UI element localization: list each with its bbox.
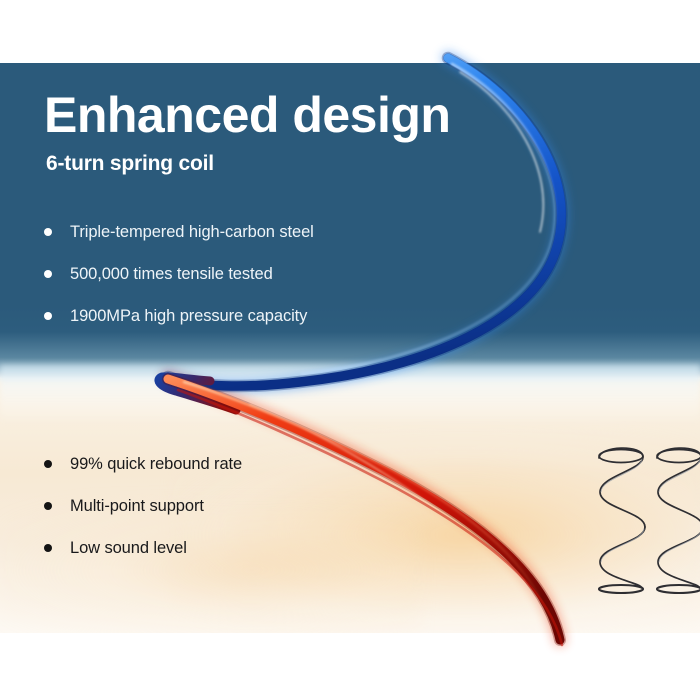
panel-fade-sheen <box>0 365 700 425</box>
bullet-dot-icon <box>44 502 52 510</box>
page-title: Enhanced design <box>44 89 450 142</box>
feature-text: Multi-point support <box>70 497 204 516</box>
feature-text: 500,000 times tensile tested <box>70 265 273 284</box>
feature-text: 1900MPa high pressure capacity <box>70 307 307 326</box>
bottom-white-margin <box>0 633 700 700</box>
product-feature-banner: Enhanced design 6-turn spring coil Tripl… <box>0 0 700 700</box>
top-feature-list: Triple-tempered high-carbon steel 500,00… <box>40 211 314 337</box>
list-item: 1900MPa high pressure capacity <box>40 295 314 337</box>
bottom-feature-list: 99% quick rebound rate Multi-point suppo… <box>40 443 242 569</box>
list-item: Multi-point support <box>40 485 242 527</box>
list-item: 99% quick rebound rate <box>40 443 242 485</box>
feature-text: Low sound level <box>70 539 187 558</box>
bullet-dot-icon <box>44 312 52 320</box>
feature-text: Triple-tempered high-carbon steel <box>70 223 314 242</box>
list-item: Low sound level <box>40 527 242 569</box>
bullet-dot-icon <box>44 270 52 278</box>
bullet-dot-icon <box>44 228 52 236</box>
list-item: Triple-tempered high-carbon steel <box>40 211 314 253</box>
bullet-dot-icon <box>44 544 52 552</box>
bullet-dot-icon <box>44 460 52 468</box>
page-subtitle: 6-turn spring coil <box>46 152 214 176</box>
feature-text: 99% quick rebound rate <box>70 455 242 474</box>
top-white-margin <box>0 0 700 63</box>
list-item: 500,000 times tensile tested <box>40 253 314 295</box>
